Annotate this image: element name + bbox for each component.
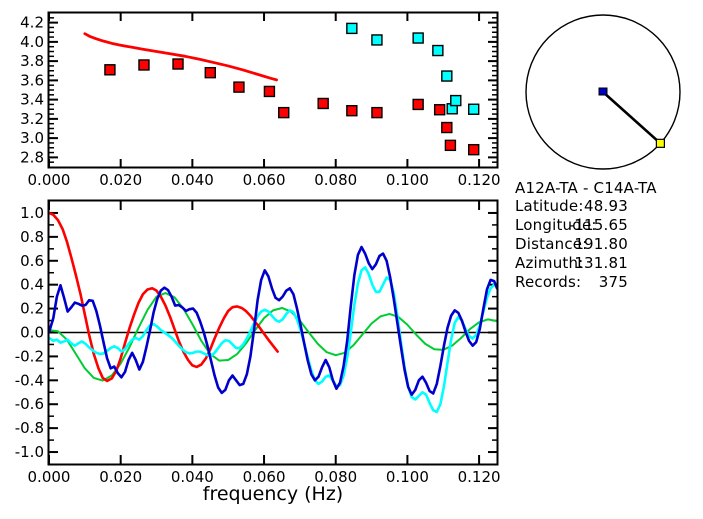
data-point-marker[interactable]: [469, 145, 479, 155]
info-value[interactable]: -115.65: [569, 216, 628, 234]
ytick-label[interactable]: 3.2: [20, 110, 44, 128]
data-point-marker[interactable]: [451, 96, 461, 106]
xtick-label[interactable]: 0.100: [386, 171, 429, 189]
data-point-marker[interactable]: [234, 82, 244, 92]
data-point-marker[interactable]: [105, 65, 115, 75]
info-key[interactable]: Latitude:: [515, 197, 584, 215]
info-value[interactable]: 375: [599, 273, 628, 291]
xtick-label[interactable]: 0.100: [386, 468, 429, 486]
ytick-label[interactable]: -0.8: [15, 419, 44, 437]
data-point-marker[interactable]: [435, 105, 445, 115]
data-point-marker[interactable]: [205, 68, 215, 78]
xtick-label[interactable]: 0.020: [99, 468, 142, 486]
data-point-marker[interactable]: [347, 23, 357, 33]
info-value[interactable]: 48.93: [584, 197, 628, 215]
ytick-label[interactable]: 3.6: [20, 71, 44, 89]
data-point-marker[interactable]: [433, 46, 443, 56]
figure-root: 0.0000.0200.0400.0600.0800.1000.120 2.83…: [0, 0, 703, 519]
ytick-label[interactable]: -0.6: [15, 395, 44, 413]
ytick-label[interactable]: 2.8: [20, 148, 44, 166]
ytick-label[interactable]: 4.2: [20, 14, 44, 32]
data-point-marker[interactable]: [445, 140, 455, 150]
ytick-label[interactable]: 0.6: [20, 252, 44, 270]
ytick-label[interactable]: 0.2: [20, 300, 44, 318]
ytick-label[interactable]: 3.0: [20, 129, 44, 147]
azimuth-endpoint-marker: [656, 139, 664, 147]
data-point-marker[interactable]: [347, 106, 357, 116]
x-axis-title: frequency (Hz): [203, 483, 343, 505]
info-key[interactable]: Azimuth:: [515, 254, 583, 272]
xtick-label[interactable]: 0.000: [28, 171, 71, 189]
ytick-label[interactable]: 3.8: [20, 52, 44, 70]
plot-canvas: 0.0000.0200.0400.0600.0800.1000.120 2.83…: [0, 0, 703, 519]
xtick-label[interactable]: 0.020: [99, 171, 142, 189]
ytick-label[interactable]: -1.0: [15, 443, 44, 461]
data-point-marker[interactable]: [442, 123, 452, 133]
xtick-label[interactable]: 0.120: [458, 171, 501, 189]
azimuth-center-marker: [599, 88, 607, 95]
data-point-marker[interactable]: [413, 33, 423, 43]
data-point-marker[interactable]: [469, 104, 479, 114]
info-value[interactable]: 131.81: [574, 254, 628, 272]
xtick-label[interactable]: 0.000: [28, 468, 71, 486]
ytick-label[interactable]: 1.0: [20, 204, 44, 222]
info-key[interactable]: Records:: [515, 273, 581, 291]
xtick-label[interactable]: 0.060: [243, 171, 286, 189]
ytick-label[interactable]: 4.0: [20, 33, 44, 51]
xtick-label[interactable]: 0.040: [171, 171, 214, 189]
dispersion-ytick-labels: 2.83.03.23.43.63.84.04.2: [20, 14, 44, 167]
ytick-label[interactable]: 0.0: [20, 324, 44, 342]
station-info-rows: Latitude:48.93Longitude:-115.65Distance:…: [515, 197, 628, 291]
data-point-marker[interactable]: [442, 71, 452, 81]
data-point-marker[interactable]: [279, 108, 289, 118]
xtick-label[interactable]: 0.080: [314, 171, 357, 189]
ytick-label[interactable]: -0.4: [15, 371, 44, 389]
data-point-marker[interactable]: [372, 35, 382, 45]
data-point-marker[interactable]: [264, 86, 274, 96]
data-point-marker[interactable]: [139, 60, 149, 70]
ytick-label[interactable]: 3.4: [20, 91, 44, 109]
ytick-label[interactable]: -0.2: [15, 347, 44, 365]
data-point-marker[interactable]: [173, 59, 183, 69]
ytick-label[interactable]: 0.4: [20, 276, 44, 294]
ytick-label[interactable]: 0.8: [20, 228, 44, 246]
data-point-marker[interactable]: [372, 108, 382, 118]
xtick-label[interactable]: 0.120: [458, 468, 501, 486]
station-pair-label: A12A-TA - C14A-TA: [515, 179, 657, 197]
data-point-marker[interactable]: [318, 98, 328, 108]
data-point-marker[interactable]: [413, 99, 423, 109]
info-value[interactable]: 191.80: [574, 235, 628, 253]
